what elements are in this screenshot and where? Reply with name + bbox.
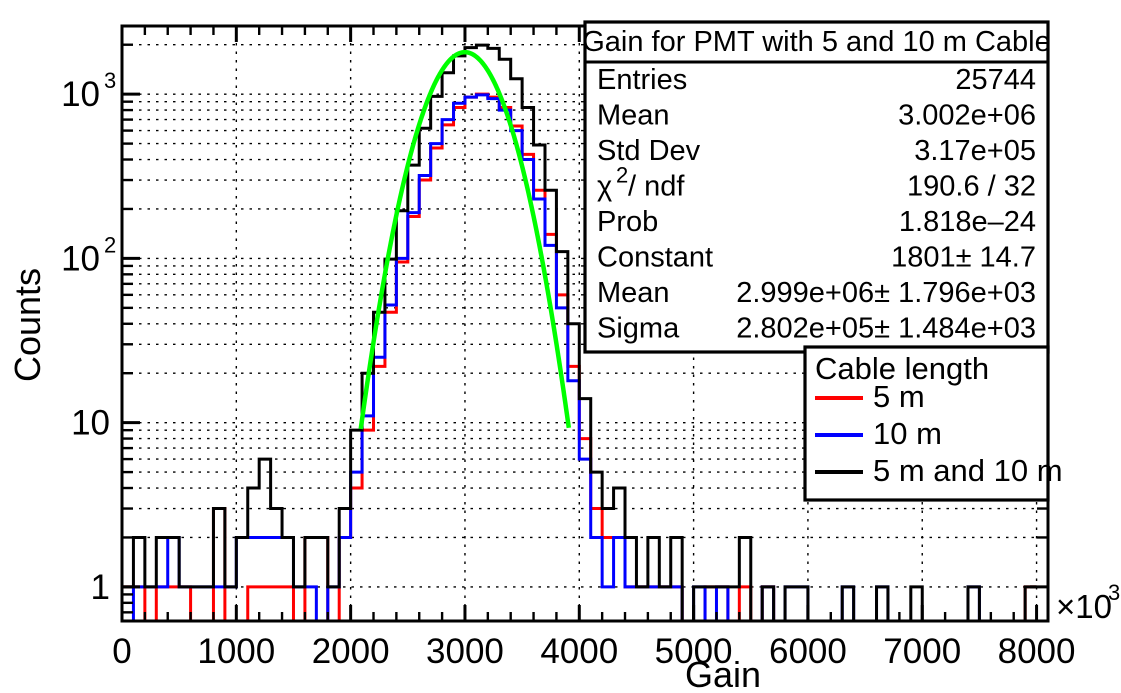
stats-row-value: 1801± 14.7 <box>891 242 1036 274</box>
stats-row-label: Prob <box>597 206 658 238</box>
stats-row-label: χ <box>597 171 612 203</box>
y-tick-label: 1 <box>91 568 110 607</box>
y-tick-label: 10 <box>61 239 100 278</box>
y-tick-label-group: 10 <box>71 404 110 443</box>
y-tick-label-group: 1 <box>91 568 110 607</box>
stats-row-value: 25744 <box>955 64 1036 96</box>
x-tick-label: 4000 <box>540 632 618 671</box>
y-axis-title: Counts <box>7 268 48 382</box>
x-tick-label: 8000 <box>998 632 1076 671</box>
x-tick-label: 6000 <box>769 632 847 671</box>
y-tick-label-group: 102 <box>61 232 116 278</box>
stats-row-label: Entries <box>597 64 687 96</box>
stats-row-value: 190.6 / 32 <box>907 171 1036 203</box>
x-axis-exponent: ×10 3 <box>1056 580 1120 625</box>
x-axis-exponent-base: ×10 <box>1056 588 1112 625</box>
plot-canvas: 010002000300040005000600070008000 110102… <box>0 0 1121 693</box>
stats-row-label: Constant <box>597 242 713 274</box>
x-axis-tick-labels: 010002000300040005000600070008000 <box>112 632 1075 671</box>
y-tick-label: 10 <box>61 75 100 114</box>
y-tick-label: 10 <box>71 404 110 443</box>
y-axis-tick-labels: 110102103 <box>61 68 116 607</box>
y-tick-label-exponent: 3 <box>104 68 116 93</box>
legend-box: Cable length5 m10 m5 m and 10 m <box>805 347 1063 500</box>
stats-row-label-exponent: 2 <box>616 163 628 188</box>
legend-entry-label: 10 m <box>873 416 942 451</box>
statistics-box: Gain for PMT with 5 and 10 m CableEntrie… <box>582 22 1051 352</box>
stats-row-value: 3.17e+05 <box>914 135 1036 167</box>
stats-row-label: Mean <box>597 100 670 132</box>
legend-entry-label: 5 m and 10 m <box>873 453 1063 488</box>
stats-row-value: 2.802e+05± 1.484e+03 <box>736 313 1036 345</box>
stats-row-label: Sigma <box>597 313 680 345</box>
x-tick-label: 1000 <box>197 632 275 671</box>
stats-row-label-tail: / ndf <box>628 171 685 203</box>
y-tick-label-exponent: 2 <box>104 232 116 257</box>
x-tick-label: 7000 <box>883 632 961 671</box>
stats-row-label: Std Dev <box>597 135 701 167</box>
histogram-figure: 010002000300040005000600070008000 110102… <box>0 0 1121 693</box>
y-tick-label-group: 103 <box>61 68 116 114</box>
stats-row-value: 2.999e+06± 1.796e+03 <box>736 277 1036 309</box>
x-tick-label: 3000 <box>426 632 504 671</box>
x-tick-label: 2000 <box>312 632 390 671</box>
stats-row-value: 1.818e–24 <box>899 206 1036 238</box>
stats-box-title: Gain for PMT with 5 and 10 m Cable <box>582 26 1051 58</box>
x-tick-label: 0 <box>112 632 131 671</box>
stats-row-label: Mean <box>597 277 670 309</box>
x-axis-title: Gain <box>685 654 761 693</box>
x-axis-exponent-power: 3 <box>1108 580 1120 605</box>
stats-row-value: 3.002e+06 <box>898 100 1036 132</box>
legend-entry-label: 5 m <box>873 379 925 414</box>
